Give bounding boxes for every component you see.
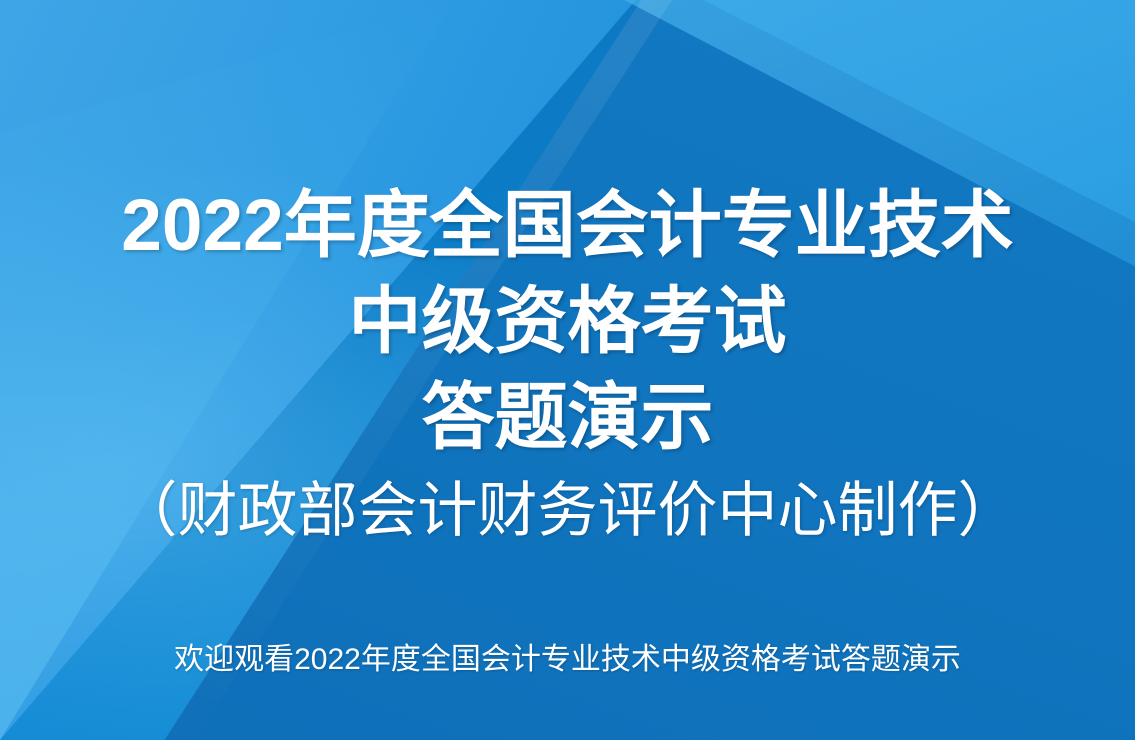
presentation-slide: 2022年度全国会计专业技术 中级资格考试 答题演示 （财政部会计财务评价中心制…	[0, 0, 1135, 740]
title-block: 2022年度全国会计专业技术 中级资格考试 答题演示 （财政部会计财务评价中心制…	[0, 178, 1135, 548]
title-line-2: 中级资格考试	[0, 274, 1135, 370]
title-line-3: 答题演示	[0, 370, 1135, 466]
welcome-caption: 欢迎观看2022年度全国会计专业技术中级资格考试答题演示	[0, 641, 1135, 679]
title-line-1: 2022年度全国会计专业技术	[0, 178, 1135, 274]
subtitle-producer: （财政部会计财务评价中心制作）	[0, 474, 1135, 548]
slide-content: 2022年度全国会计专业技术 中级资格考试 答题演示 （财政部会计财务评价中心制…	[0, 0, 1135, 740]
